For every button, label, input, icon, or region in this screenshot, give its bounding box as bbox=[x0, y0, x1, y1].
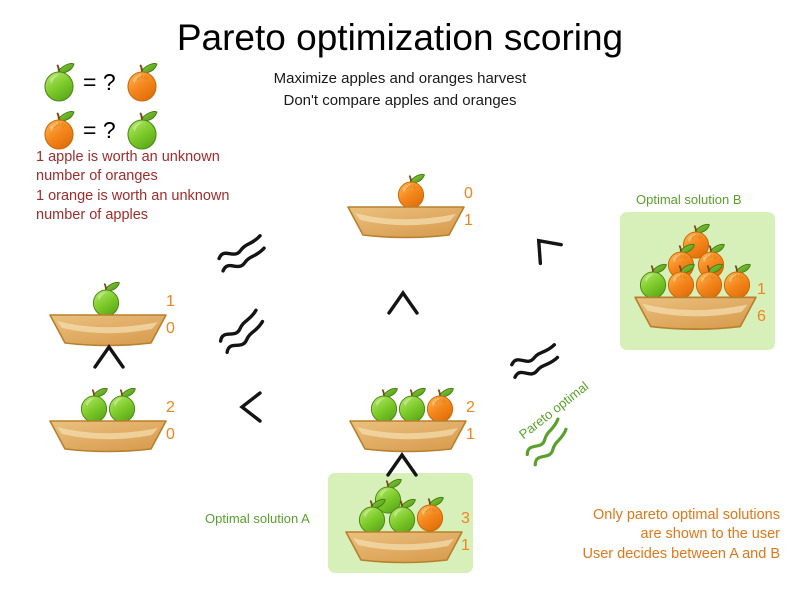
optimal-solution-b-label: Optimal solution B bbox=[636, 192, 742, 207]
conclusion-line-1: Only pareto optimal solutions bbox=[470, 506, 780, 525]
conclusion-line-3: User decides between A and B bbox=[470, 545, 780, 564]
legend-row-apple-equals-orange: = ? bbox=[38, 60, 163, 104]
optimal-solution-a-label: Optimal solution A bbox=[205, 511, 310, 526]
subtitle-block: Maximize apples and oranges harvest Don'… bbox=[180, 68, 620, 112]
less-than-rotated-icon bbox=[521, 226, 566, 271]
approximately-equal-icon bbox=[211, 302, 281, 361]
bowl-with-fruit bbox=[338, 160, 508, 252]
legend-row-orange-equals-apple: = ? bbox=[38, 108, 163, 152]
solution-top-orange[interactable]: 0 1 bbox=[338, 160, 508, 252]
legend-operator-1: = ? bbox=[83, 71, 116, 94]
approximately-equal-icon bbox=[505, 339, 573, 385]
score-oranges: 1 bbox=[461, 538, 470, 554]
score-left-apple: 1 0 bbox=[166, 294, 175, 337]
less-than-icon bbox=[237, 390, 265, 426]
greater-than-rotated-icon bbox=[92, 344, 128, 372]
unknown-value-line-1: 1 apple is worth an unknown bbox=[36, 148, 316, 167]
unknown-value-line-2: number of oranges bbox=[36, 167, 316, 186]
greater-than-rotated-icon bbox=[385, 452, 421, 480]
page-title: Pareto optimization scoring bbox=[0, 18, 800, 59]
approximately-equal-icon bbox=[212, 229, 281, 279]
score-oranges: 0 bbox=[166, 427, 175, 443]
apple-icon bbox=[38, 60, 80, 104]
orange-icon bbox=[121, 60, 163, 104]
solution-left-apples[interactable]: 2 0 bbox=[40, 378, 210, 470]
bowl-with-fruit bbox=[625, 222, 795, 342]
score-apples: 2 bbox=[466, 400, 475, 416]
subtitle-line-1: Maximize apples and oranges harvest bbox=[180, 68, 620, 90]
orange-icon bbox=[38, 108, 80, 152]
legend-operator-2: = ? bbox=[83, 119, 116, 142]
score-mid-mixed: 2 1 bbox=[466, 400, 475, 443]
diagram-canvas: Pareto optimization scoring Maximize app… bbox=[0, 0, 800, 600]
bowl-with-fruit bbox=[340, 378, 510, 470]
bowl-with-fruit bbox=[40, 378, 210, 470]
score-left-apples: 2 0 bbox=[166, 400, 175, 443]
score-apples: 1 bbox=[166, 294, 175, 310]
score-apples: 3 bbox=[461, 511, 470, 527]
solution-b[interactable]: 1 6 bbox=[625, 222, 795, 342]
conclusion-note: Only pareto optimal solutions are shown … bbox=[470, 506, 780, 564]
greater-than-rotated-icon bbox=[386, 290, 422, 318]
score-oranges: 0 bbox=[166, 321, 175, 337]
score-oranges: 6 bbox=[757, 309, 766, 325]
score-oranges: 1 bbox=[464, 213, 473, 229]
score-solution-b: 1 6 bbox=[757, 282, 766, 325]
score-apples: 1 bbox=[757, 282, 766, 298]
unknown-value-line-3: 1 orange is worth an unknown bbox=[36, 187, 316, 206]
solution-mid-mixed[interactable]: 2 1 bbox=[340, 378, 510, 470]
unknown-value-line-4: number of apples bbox=[36, 206, 316, 225]
unknown-value-note: 1 apple is worth an unknown number of or… bbox=[36, 148, 316, 225]
score-apples: 0 bbox=[464, 186, 473, 202]
conclusion-line-2: are shown to the user bbox=[470, 525, 780, 544]
score-apples: 2 bbox=[166, 400, 175, 416]
score-top-orange: 0 1 bbox=[464, 186, 473, 229]
score-solution-a: 3 1 bbox=[461, 511, 470, 554]
score-oranges: 1 bbox=[466, 427, 475, 443]
apple-icon bbox=[121, 108, 163, 152]
subtitle-line-2: Don't compare apples and oranges bbox=[180, 90, 620, 112]
